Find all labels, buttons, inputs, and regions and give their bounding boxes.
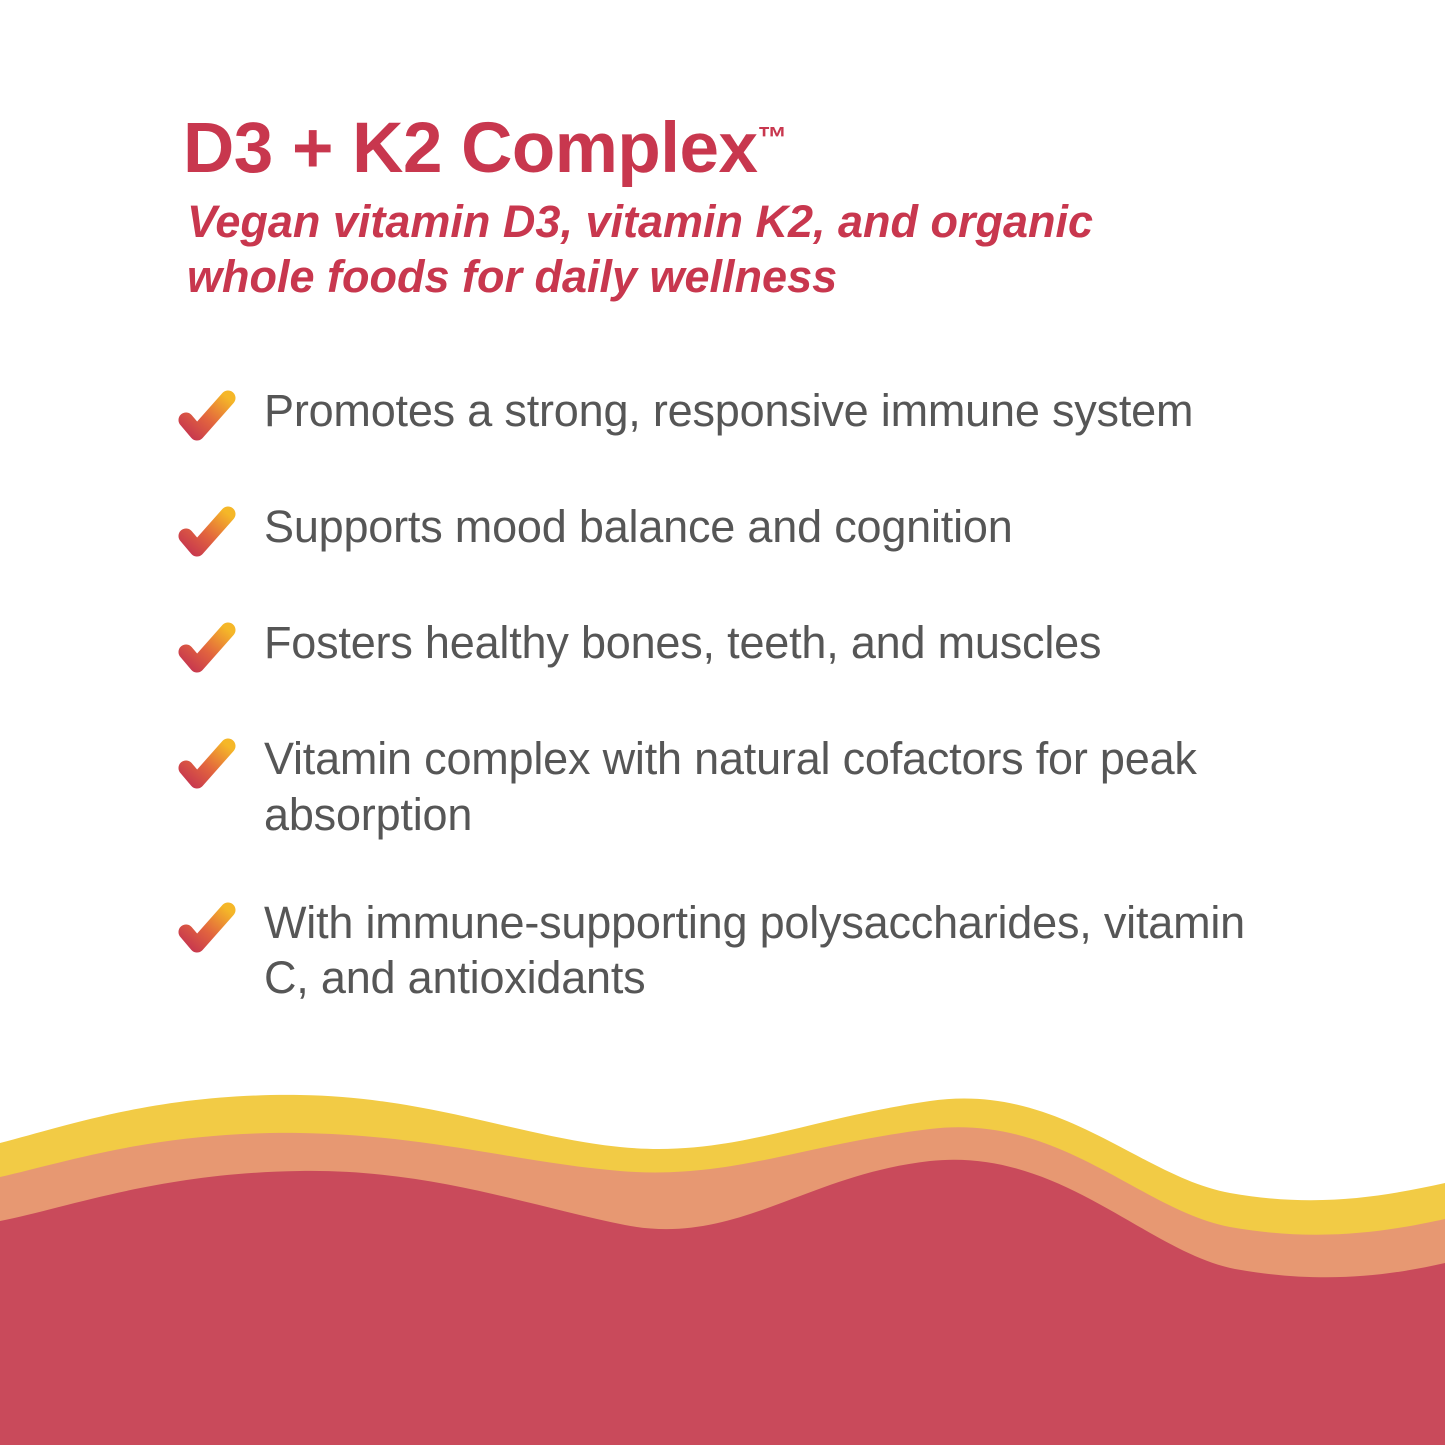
list-item: Supports mood balance and cognition: [178, 499, 1308, 563]
list-item: Vitamin complex with natural cofactors f…: [178, 731, 1308, 843]
check-icon: [178, 505, 236, 563]
list-item: Promotes a strong, responsive immune sys…: [178, 383, 1308, 447]
header-block: D3 + K2 Complex™ Vegan vitamin D3, vitam…: [183, 112, 1303, 305]
list-item: Fosters healthy bones, teeth, and muscle…: [178, 615, 1308, 679]
trademark-symbol: ™: [758, 121, 788, 154]
list-item-label: Vitamin complex with natural cofactors f…: [264, 731, 1264, 843]
check-icon: [178, 389, 236, 447]
check-icon: [178, 901, 236, 959]
list-item: With immune-supporting polysaccharides, …: [178, 895, 1308, 1007]
product-subtitle: Vegan vitamin D3, vitamin K2, and organi…: [187, 194, 1197, 305]
benefits-list: Promotes a strong, responsive immune sys…: [178, 383, 1308, 1006]
list-item-label: Promotes a strong, responsive immune sys…: [264, 383, 1193, 439]
list-item-label: Fosters healthy bones, teeth, and muscle…: [264, 615, 1101, 671]
list-item-label: With immune-supporting polysaccharides, …: [264, 895, 1264, 1007]
list-item-label: Supports mood balance and cognition: [264, 499, 1013, 555]
check-icon: [178, 737, 236, 795]
check-icon: [178, 621, 236, 679]
product-benefits-card: D3 + K2 Complex™ Vegan vitamin D3, vitam…: [0, 0, 1445, 1445]
page-title: D3 + K2 Complex™: [183, 112, 1303, 186]
tri-color-wave-graphic: [0, 1065, 1445, 1445]
product-title-text: D3 + K2 Complex: [183, 109, 758, 188]
